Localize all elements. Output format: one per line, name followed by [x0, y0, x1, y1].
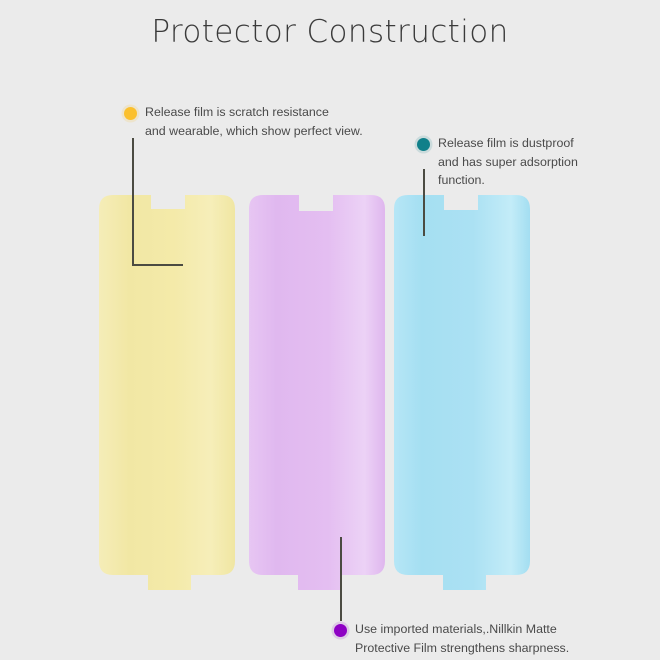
leader-line-yellow-horizontal — [132, 264, 183, 266]
annotation-line: function. — [438, 171, 578, 190]
film-sheet-blue — [394, 195, 530, 590]
leader-line-teal-vertical — [423, 169, 425, 236]
protector-construction-infographic: Protector Construction — [0, 0, 660, 660]
page-title: Protector Construction — [0, 14, 660, 50]
annotation-text-teal: Release film is dustproof and has super … — [438, 134, 578, 190]
film-sheet-pink — [249, 195, 385, 590]
annotation-line: Protective Film strengthens sharpness. — [355, 639, 569, 658]
annotation-text-yellow: Release film is scratch resistance and w… — [145, 103, 363, 140]
annotation-line: Release film is scratch resistance — [145, 103, 363, 122]
bullet-dot-icon-purple — [334, 624, 347, 637]
leader-line-yellow-vertical — [132, 138, 134, 266]
bullet-dot-icon-teal — [417, 138, 430, 151]
annotation-line: Release film is dustproof — [438, 134, 578, 153]
annotation-text-purple: Use imported materials,.Nillkin Matte Pr… — [355, 620, 569, 657]
annotation-line: and wearable, which show perfect view. — [145, 122, 363, 141]
bullet-dot-icon-yellow — [124, 107, 137, 120]
annotation-line: Use imported materials,.Nillkin Matte — [355, 620, 569, 639]
annotation-line: and has super adsorption — [438, 153, 578, 172]
film-sheet-yellow — [99, 195, 235, 590]
leader-line-purple-vertical — [340, 537, 342, 621]
